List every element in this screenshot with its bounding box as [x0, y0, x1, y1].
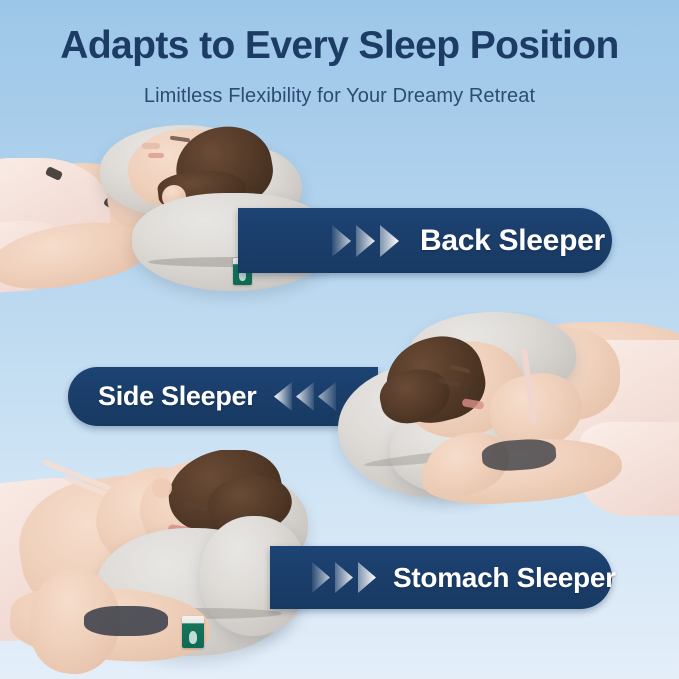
page-subtitle: Limitless Flexibility for Your Dreamy Re…	[0, 83, 679, 109]
pillow-brand-tag	[182, 616, 204, 648]
chevron-left-icon	[294, 381, 316, 412]
banner-back-sleeper-label: Back Sleeper	[420, 224, 605, 258]
chevron-right-icon	[310, 561, 333, 594]
chevron-right-icon	[356, 561, 379, 594]
chevron-left-icon-group	[272, 381, 338, 412]
chevron-right-icon-group	[310, 561, 379, 594]
banner-stomach-sleeper[interactable]: Stomach Sleeper	[270, 546, 612, 609]
photo-side-sleeper	[330, 312, 679, 516]
chevron-right-icon	[378, 224, 402, 258]
banner-side-sleeper-label: Side Sleeper	[98, 381, 256, 412]
chevron-left-icon	[272, 381, 294, 412]
chevron-right-icon	[354, 224, 378, 258]
page-title: Adapts to Every Sleep Position	[0, 24, 679, 68]
chevron-right-icon-group	[330, 224, 402, 258]
header: Adapts to Every Sleep Position Limitless…	[0, 0, 679, 125]
chevron-right-icon	[330, 224, 354, 258]
promo-image: Adapts to Every Sleep Position Limitless…	[0, 0, 679, 679]
banner-stomach-sleeper-label: Stomach Sleeper	[393, 562, 616, 594]
chevron-right-icon	[333, 561, 356, 594]
banner-back-sleeper[interactable]: Back Sleeper	[238, 208, 612, 273]
